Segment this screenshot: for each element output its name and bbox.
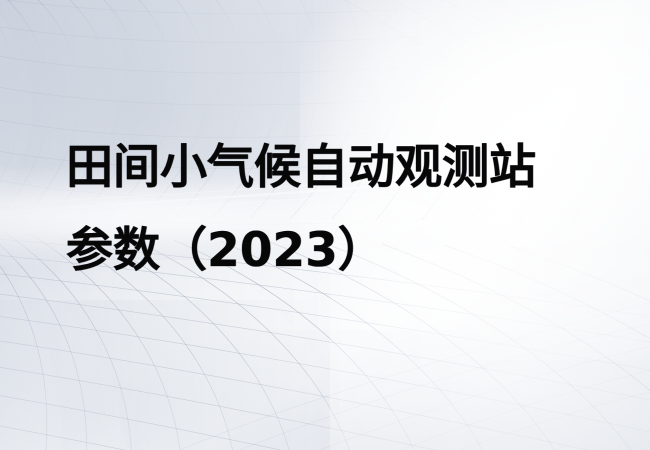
slide-title-line-2: 参数（2023） <box>66 209 596 292</box>
slide-title-line-1: 田间小气候自动观测站 <box>66 126 596 209</box>
slide-canvas: 田间小气候自动观测站 参数（2023） <box>0 0 650 450</box>
slide-title-block: 田间小气候自动观测站 参数（2023） <box>66 126 596 292</box>
